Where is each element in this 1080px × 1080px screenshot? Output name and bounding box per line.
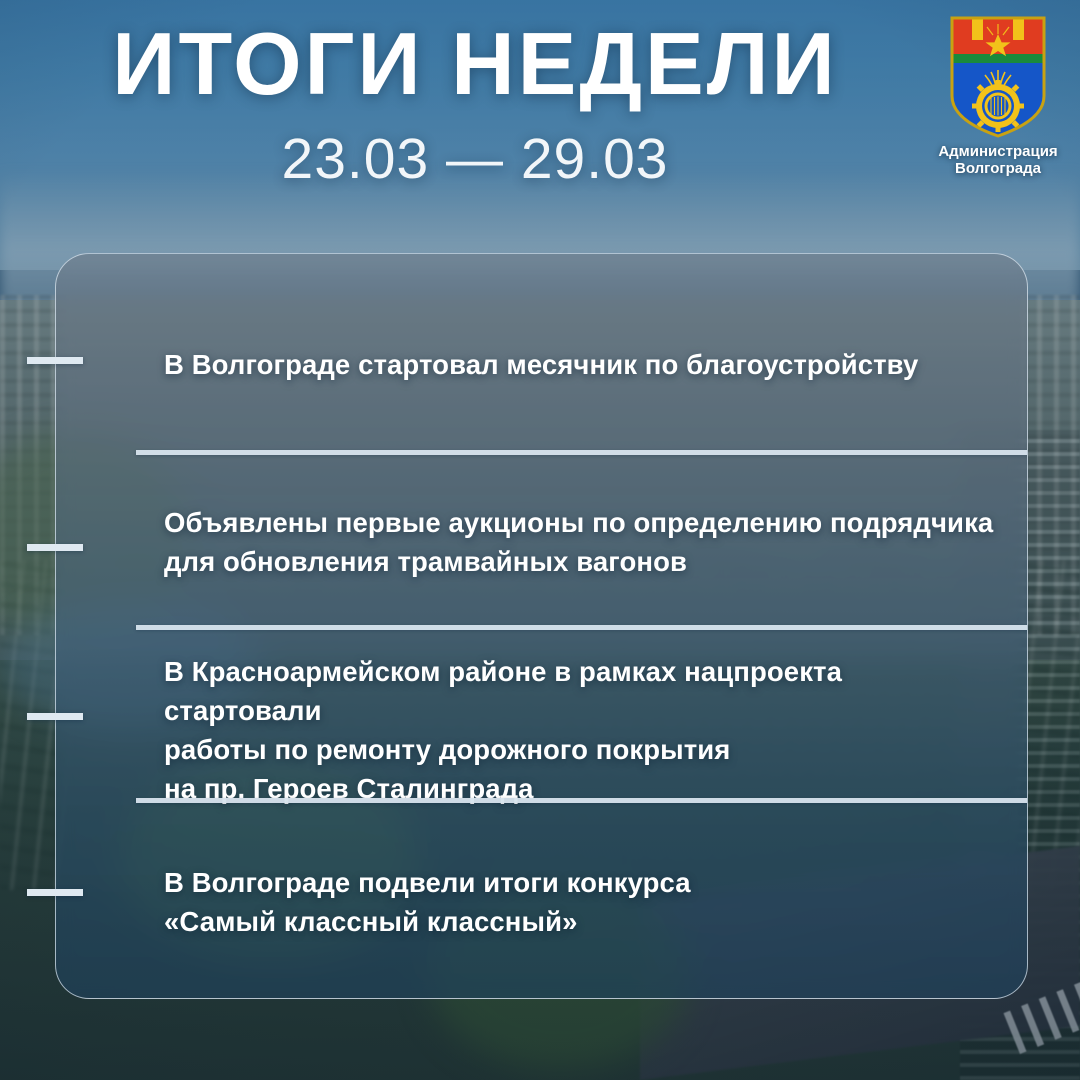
news-item-dash-marker: [27, 357, 83, 364]
page-title: ИТОГИ НЕДЕЛИ: [0, 20, 1080, 108]
date-range: 23.03 — 29.03: [0, 131, 1080, 188]
news-item-dash-marker: [27, 713, 83, 720]
news-item-divider: [136, 798, 1028, 803]
news-item-text: Объявлены первые аукционы по определению…: [164, 503, 1004, 581]
news-list: В Волгограде стартовал месячник по благо…: [56, 254, 1027, 998]
news-item-divider: [136, 625, 1028, 630]
news-item-dash-marker: [27, 889, 83, 896]
emblem-caption: Администрация Волгограда: [938, 144, 1058, 178]
news-item-divider: [136, 450, 1028, 455]
news-summary-card: В Волгограде стартовал месячник по благо…: [55, 253, 1028, 999]
news-item-text: В Красноармейском районе в рамках нацпро…: [164, 652, 1004, 808]
news-item-dash-marker: [27, 544, 83, 551]
news-item-text: В Волгограде подвели итоги конкурса «Сам…: [164, 863, 1004, 941]
news-item-text: В Волгограде стартовал месячник по благо…: [164, 345, 1004, 384]
administration-emblem: Администрация Волгограда: [938, 14, 1058, 178]
header: ИТОГИ НЕДЕЛИ 23.03 — 29.03: [0, 0, 1080, 215]
coat-of-arms-icon: [947, 14, 1049, 140]
